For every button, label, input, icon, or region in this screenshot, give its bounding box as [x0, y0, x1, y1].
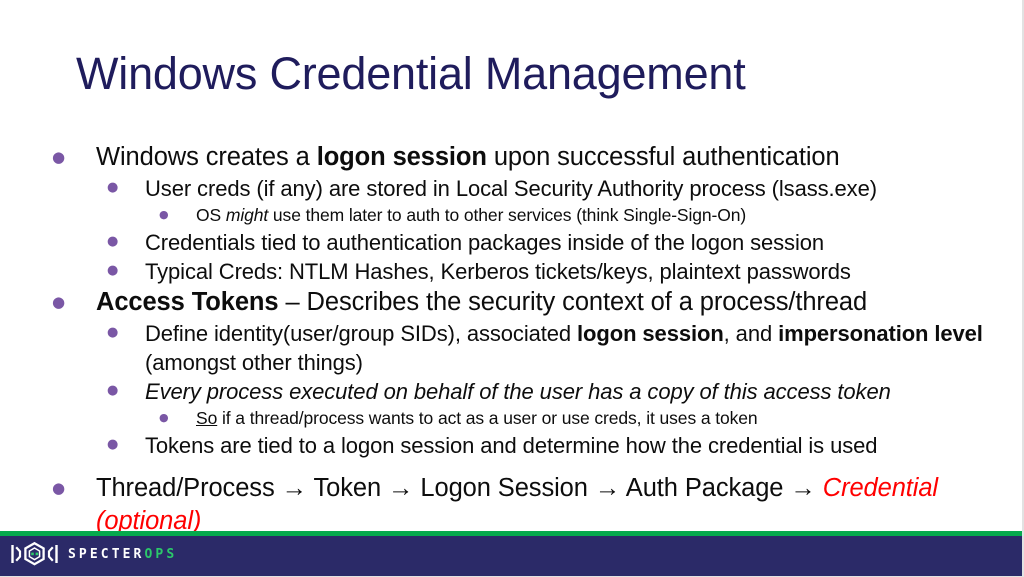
- bullet-text-italic: might: [226, 205, 268, 225]
- bullet-text-italic: Every process executed on behalf of the …: [145, 379, 891, 404]
- bullet-text-bold: Access Tokens: [96, 288, 279, 316]
- bullet-item-level2: ● Typical Creds: NTLM Hashes, Kerberos t…: [0, 257, 1000, 286]
- bullet-marker-icon: ●: [52, 481, 65, 496]
- bullet-text-post: if a thread/process wants to act as a us…: [217, 408, 757, 428]
- brand-name-primary: SPECTER: [68, 547, 145, 562]
- bullet-text-pre: Windows creates a: [96, 143, 317, 171]
- bullet-text-underline: So: [196, 408, 217, 428]
- bullet-item-level1: ● Thread/Process → Token → Logon Session…: [0, 472, 1000, 538]
- specterops-logo: SPECTEROPS: [9, 540, 177, 568]
- bullet-text: Tokens are tied to a logon session and d…: [145, 431, 1000, 460]
- bullet-text: Windows creates a logon session upon suc…: [96, 141, 1000, 174]
- page-title: Windows Credential Management: [76, 50, 956, 97]
- bullet-marker-icon: ●: [159, 412, 169, 423]
- bullet-marker-icon: ●: [52, 150, 65, 165]
- bullet-item-level2: ● Every process executed on behalf of th…: [0, 377, 1000, 406]
- bullet-item-level3: ● OS might use them later to auth to oth…: [0, 203, 1000, 228]
- slide-body: ● Windows creates a logon session upon s…: [0, 141, 1000, 538]
- brand-name-secondary: OPS: [145, 547, 178, 562]
- bullet-text: Every process executed on behalf of the …: [145, 377, 1000, 406]
- bullet-text: Thread/Process → Token → Logon Session →…: [96, 472, 1000, 538]
- footer-bar: SPECTEROPS: [0, 531, 1022, 576]
- bullet-text-pre: Define identity(user/group SIDs), associ…: [145, 321, 577, 346]
- bullet-marker-icon: ●: [107, 438, 118, 451]
- bullet-marker-icon: ●: [107, 326, 118, 339]
- bullet-item-level1: ● Windows creates a logon session upon s…: [0, 141, 1000, 174]
- bullet-text-bold-2: impersonation level: [778, 321, 983, 346]
- specterops-hexagon-icon: [9, 541, 61, 567]
- bullet-text: Credentials tied to authentication packa…: [145, 228, 1000, 257]
- bullet-marker-icon: ●: [107, 181, 118, 194]
- bullet-text: Define identity(user/group SIDs), associ…: [145, 319, 1000, 377]
- bullet-text: So if a thread/process wants to act as a…: [196, 406, 1000, 431]
- bullet-text: OS might use them later to auth to other…: [196, 203, 1000, 228]
- bullet-text-bold-1: logon session: [577, 321, 724, 346]
- bullet-item-level2: ● Tokens are tied to a logon session and…: [0, 431, 1000, 460]
- bullet-text-pre: OS: [196, 205, 226, 225]
- bullet-spacer: [0, 460, 1000, 472]
- bullet-item-level2: ● Define identity(user/group SIDs), asso…: [0, 319, 1000, 377]
- bullet-text-post: upon successful authentication: [487, 143, 840, 171]
- bullet-marker-icon: ●: [107, 384, 118, 397]
- bullet-text-post: (amongst other things): [145, 350, 363, 375]
- bullet-text: Access Tokens – Describes the security c…: [96, 286, 1000, 319]
- bullet-item-level2: ● User creds (if any) are stored in Loca…: [0, 174, 1000, 203]
- bullet-item-level1: ● Access Tokens – Describes the security…: [0, 286, 1000, 319]
- bullet-marker-icon: ●: [107, 235, 118, 248]
- bullet-marker-icon: ●: [52, 295, 65, 310]
- bullet-text-mid: , and: [724, 321, 778, 346]
- bullet-text-bold: logon session: [317, 143, 487, 171]
- bullet-text: User creds (if any) are stored in Local …: [145, 174, 1000, 203]
- specterops-wordmark: SPECTEROPS: [68, 548, 177, 561]
- bullet-text-post: – Describes the security context of a pr…: [279, 288, 868, 316]
- bullet-item-level3: ● So if a thread/process wants to act as…: [0, 406, 1000, 431]
- bullet-text: Typical Creds: NTLM Hashes, Kerberos tic…: [145, 257, 1000, 286]
- bullet-marker-icon: ●: [107, 264, 118, 277]
- slide-canvas: Windows Credential Management ● Windows …: [0, 0, 1024, 577]
- bullet-marker-icon: ●: [159, 209, 169, 220]
- bullet-item-level2: ● Credentials tied to authentication pac…: [0, 228, 1000, 257]
- bullet-text-pre: Thread/Process → Token → Logon Session →…: [96, 474, 823, 502]
- footer-accent-stripe: [0, 531, 1022, 536]
- bullet-text-post: use them later to auth to other services…: [268, 205, 746, 225]
